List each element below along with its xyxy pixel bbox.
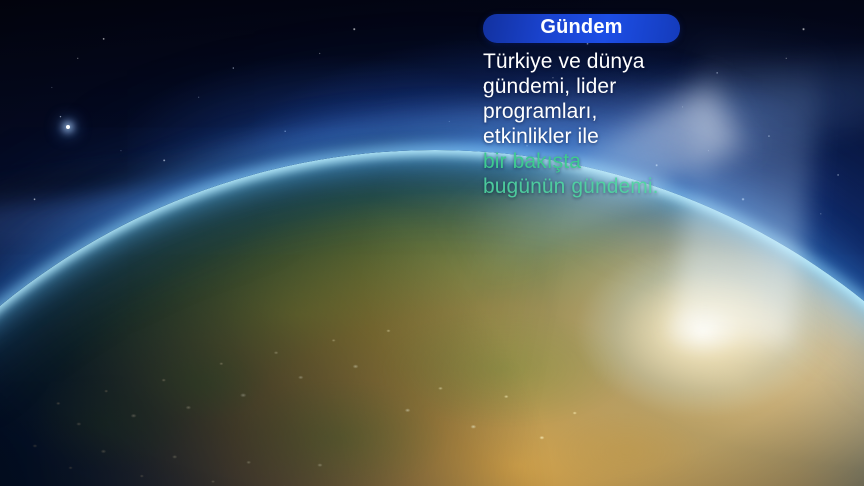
banner-stage: Gündem Türkiye ve dünya gündemi, lider p… — [0, 0, 864, 486]
gundem-badge[interactable]: Gündem — [483, 14, 680, 43]
tagline-line-4: etkinlikler ile — [483, 124, 783, 149]
tagline-line-1: Türkiye ve dünya — [483, 49, 783, 74]
tagline-line-6: bugünün gündemi. — [483, 174, 783, 199]
tagline-line-5: bir bakışta — [483, 149, 783, 174]
promo-text-panel: Gündem Türkiye ve dünya gündemi, lider p… — [483, 14, 783, 199]
tagline-line-3: programları, — [483, 99, 783, 124]
tagline-block: Türkiye ve dünya gündemi, lider programl… — [483, 49, 783, 199]
bright-star — [66, 125, 70, 129]
tagline-line-2: gündemi, lider — [483, 74, 783, 99]
